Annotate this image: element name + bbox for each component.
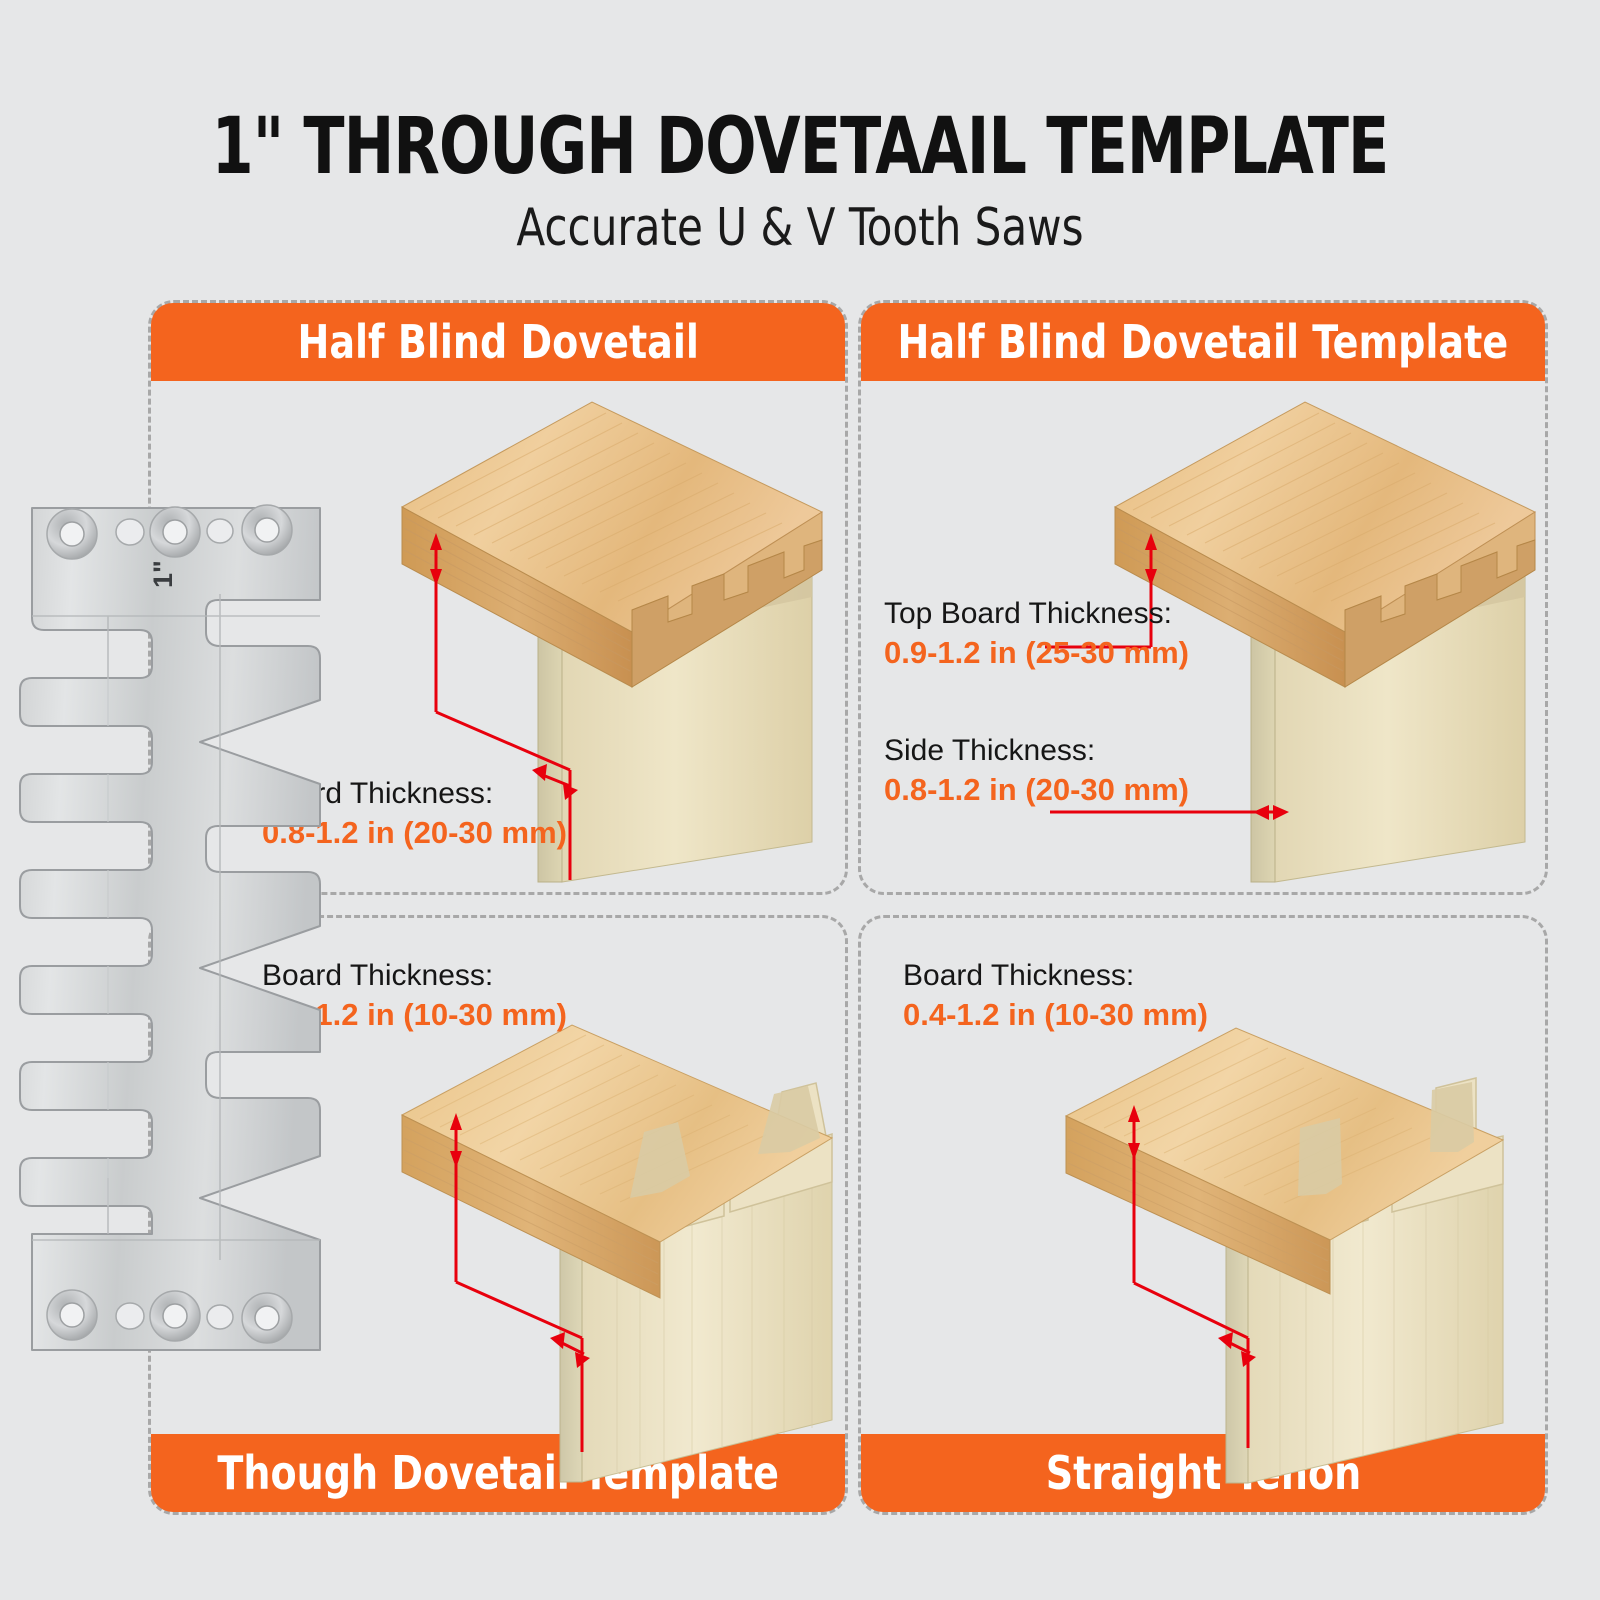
mounting-hole-top-5 (242, 505, 292, 555)
callout-top-board-thickness: Top Board Thickness: 0.9-1.2 in (25-30 m… (884, 595, 1189, 673)
callout-label: Top Board Thickness: (884, 595, 1189, 633)
callout-value: 0.4-1.2 in (10-30 mm) (903, 995, 1208, 1035)
callout-side-thickness: Side Thickness: 0.8-1.2 in (20-30 mm) (884, 732, 1189, 810)
page-subtitle: Accurate U & V Tooth Saws (80, 198, 1520, 258)
callout-label: Side Thickness: (884, 732, 1189, 770)
mounting-hole-bottom-1 (47, 1290, 97, 1340)
banner-label-top-right: Half Blind Dovetail Template (898, 317, 1509, 367)
mounting-hole-top-1 (47, 509, 97, 559)
mounting-hole-top-3 (150, 507, 200, 557)
mounting-hole-bottom-3 (150, 1291, 200, 1341)
callout-value: 0.8-1.2 in (20-30 mm) (884, 770, 1189, 810)
callout-board-thickness-bottom-right: Board Thickness: 0.4-1.2 in (10-30 mm) (903, 957, 1208, 1035)
page-title: 1" THROUGH DOVETAAIL TEMPLATE (112, 104, 1488, 190)
banner-label-top-left: Half Blind Dovetail (297, 317, 698, 367)
mounting-hole-top-4 (207, 519, 233, 543)
banner-half-blind-dovetail-template: Half Blind Dovetail Template (861, 303, 1545, 381)
mounting-hole-top-2 (116, 519, 144, 545)
dovetail-marking-template-tool: 1" (20, 470, 340, 1390)
mounting-hole-bottom-4 (207, 1305, 233, 1329)
callout-value: 0.9-1.2 in (25-30 mm) (884, 633, 1189, 673)
mounting-hole-bottom-2 (116, 1303, 144, 1329)
page-header: 1" THROUGH DOVETAAIL TEMPLATE Accurate U… (0, 0, 1600, 280)
banner-half-blind-dovetail: Half Blind Dovetail (151, 303, 845, 381)
mounting-hole-bottom-5 (242, 1293, 292, 1343)
callout-label: Board Thickness: (903, 957, 1208, 995)
wood-joint-illustration-straight-tenon (1048, 1028, 1508, 1493)
engraved-size-marking: 1" (148, 560, 178, 588)
wood-joint-illustration-through-dovetail (392, 1020, 837, 1490)
